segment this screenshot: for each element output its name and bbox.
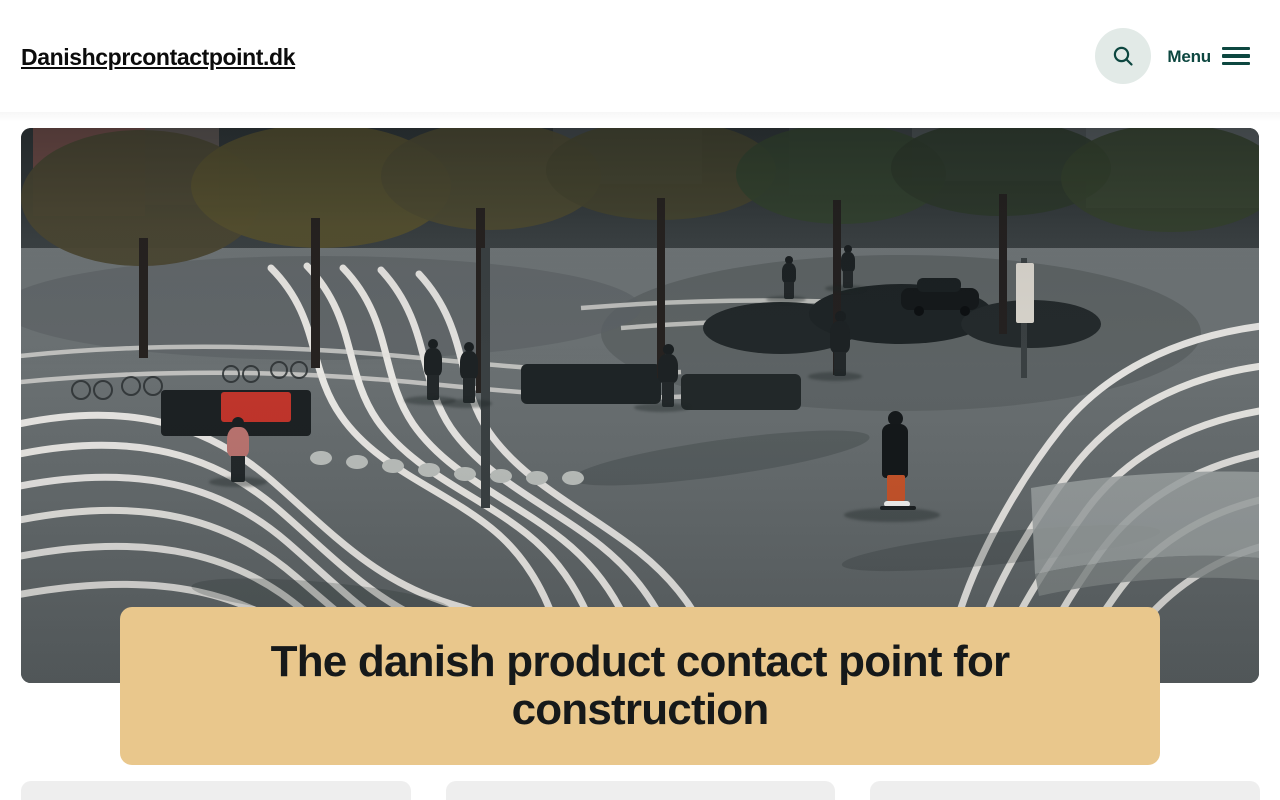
menu-label: Menu [1167, 48, 1211, 65]
page-root: Danishcprcontactpoint.dk Menu [0, 0, 1280, 800]
hero-photo [21, 128, 1259, 683]
pedestrian [780, 256, 798, 300]
content-card-2[interactable] [446, 781, 836, 800]
hero-image [21, 128, 1259, 683]
site-logo[interactable]: Danishcprcontactpoint.dk [21, 46, 295, 69]
pedestrian [828, 311, 852, 377]
content-card-3[interactable] [870, 781, 1260, 800]
search-button[interactable] [1095, 28, 1151, 84]
pedestrian [839, 245, 857, 289]
hero-title-banner: The danish product contact point for con… [120, 607, 1160, 765]
header-actions: Menu [1095, 28, 1250, 84]
menu-toggle-button[interactable]: Menu [1167, 43, 1250, 70]
page-title: The danish product contact point for con… [168, 638, 1112, 735]
content-card-1[interactable] [21, 781, 411, 800]
site-header: Danishcprcontactpoint.dk Menu [0, 0, 1280, 112]
skateboarder [878, 411, 912, 511]
pedestrian [458, 342, 480, 404]
pedestrian [225, 417, 251, 483]
pedestrian [656, 344, 680, 408]
hamburger-icon [1222, 47, 1250, 66]
pedestrian [422, 339, 444, 401]
search-icon [1111, 44, 1135, 68]
card-row [21, 781, 1260, 800]
